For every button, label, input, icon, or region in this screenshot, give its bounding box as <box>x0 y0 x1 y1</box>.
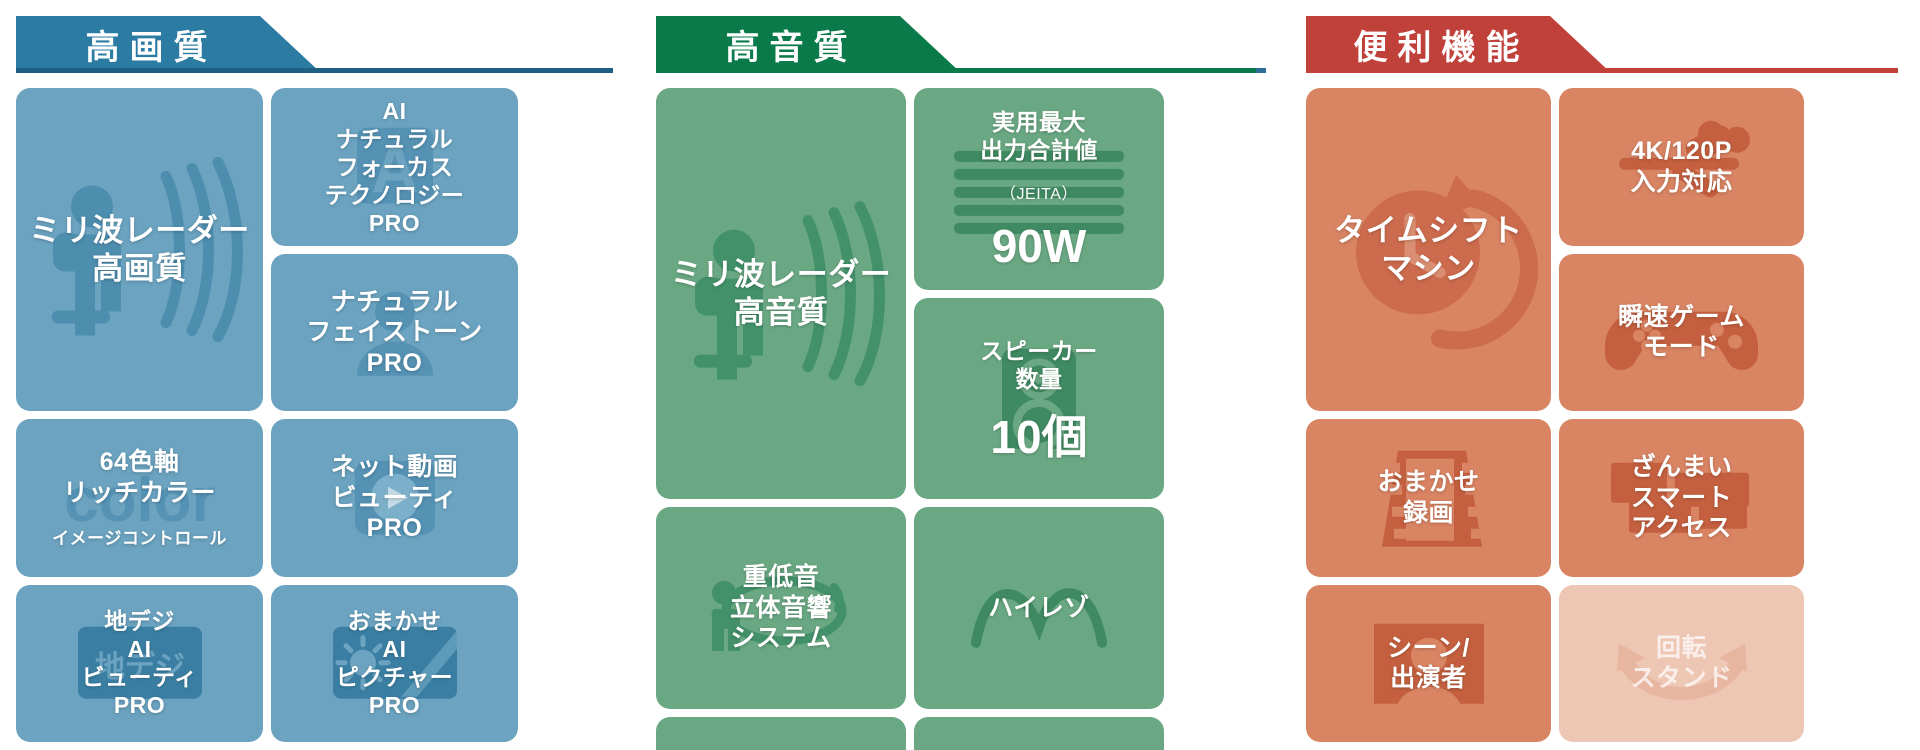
card-label: 瞬速ゲーム モード <box>1612 302 1751 363</box>
card-audio-calibration[interactable]: オーディオ キャリブ レーション <box>914 717 1164 750</box>
section-title-sound-quality: 高音質 <box>716 20 858 69</box>
card-label-sub: イメージコントロール <box>52 529 227 549</box>
section-picture-quality: 高画質 <box>0 0 640 750</box>
card-label: おまかせ AI ピクチャー PRO <box>330 607 459 719</box>
diamond-mic-icon <box>914 717 1164 750</box>
card-label: タイムシフトマシン <box>1328 212 1528 288</box>
section-tab-picture-quality: 高画質 <box>16 16 321 73</box>
section-convenient-features: 便利機能 タイムシフトマシン <box>1290 0 1920 750</box>
card-speaker-count[interactable]: スピーカー 数量 10個 <box>914 298 1164 500</box>
card-label: 4K/120P 入力対応 <box>1624 136 1738 197</box>
rule-notch <box>1256 68 1266 73</box>
card-label: 64色軸 リッチカラー イメージコントロール <box>46 427 233 568</box>
section-title-picture-quality: 高画質 <box>76 20 218 69</box>
card-4k-120p-input[interactable]: 4K/120P 入力対応 <box>1559 88 1804 246</box>
section-tab-sound-quality: 高音質 <box>656 16 961 73</box>
card-label: ミリ波レーダー高画質 <box>23 212 256 288</box>
section-rule-convenient-features <box>1306 68 1898 73</box>
card-omakase-ai-picture-pro[interactable]: おまかせ AI ピクチャー PRO <box>271 585 518 743</box>
card-zanmai-smart-access[interactable]: ざんまい スマート アクセス <box>1559 419 1804 577</box>
card-net-video-beauty-pro[interactable]: ネット動画 ビューティ PRO <box>271 419 518 577</box>
card-label-value: 10個 <box>980 414 1098 461</box>
card-label: おまかせ 録画 <box>1371 467 1485 528</box>
card-instant-game-mode[interactable]: 瞬速ゲーム モード <box>1559 254 1804 412</box>
card-label-head: 64色軸 リッチカラー <box>52 447 227 510</box>
card-omakase-recording[interactable]: おまかせ 録画 <box>1306 419 1551 577</box>
section-sound-quality: 高音質 <box>640 0 1290 750</box>
card-label: ハイレゾ <box>982 593 1096 624</box>
section-header-convenient-features: 便利機能 <box>1290 0 1920 88</box>
ear-icon <box>656 717 906 750</box>
card-label-head: スピーカー 数量 <box>980 337 1098 395</box>
feature-board: 高画質 <box>0 0 1920 750</box>
card-label: ミリ波レーダー高音質 <box>665 256 898 332</box>
section-title-convenient-features: 便利機能 <box>1344 20 1530 69</box>
section-tab-convenient-features: 便利機能 <box>1306 16 1611 73</box>
card-rich-color-image-control[interactable]: color 64色軸 リッチカラー イメージコントロール <box>16 419 263 577</box>
card-label: 実用最大 出力合計値 （JEITA） 90W <box>974 88 1104 290</box>
card-scene-cast[interactable]: シーン/ 出演者 <box>1306 585 1551 743</box>
card-label: ざんまい スマート アクセス <box>1624 452 1738 544</box>
card-max-practical-output-jeita[interactable]: 実用最大 出力合計値 （JEITA） 90W <box>914 88 1164 290</box>
section-header-sound-quality: 高音質 <box>640 0 1290 88</box>
card-label: 回転 スタンド <box>1624 633 1738 694</box>
card-timeshift-machine[interactable]: タイムシフトマシン <box>1306 88 1551 411</box>
section-rule-sound-quality <box>656 68 1256 73</box>
card-label: 重低音 立体音響 システム <box>724 562 838 654</box>
card-mmwave-radar-sound-quality[interactable]: ミリ波レーダー高音質 <box>656 88 906 499</box>
card-ai-natural-focus-technology-pro[interactable]: A AI ナチュラル フォーカス テクノロジー PRO <box>271 88 518 246</box>
card-terrestrial-ai-beauty-pro[interactable]: 地デジ 地デジ AI ビューティ PRO <box>16 585 263 743</box>
card-label: 地デジ AI ビューティ PRO <box>75 607 203 719</box>
card-label-unit: （JEITA） <box>980 185 1098 204</box>
card-label: AI ナチュラル フォーカス テクノロジー PRO <box>319 97 471 237</box>
card-label: ナチュラル フェイストーン PRO <box>300 287 489 379</box>
card-grid-picture-quality: ミリ波レーダー高画質 A AI ナチュラル フォーカス テクノロジー PRO ナ… <box>0 88 640 750</box>
card-label-value: 90W <box>980 223 1098 270</box>
card-deep-bass-3d-sound-system[interactable]: 重低音 立体音響 システム <box>656 507 906 709</box>
card-label: スピーカー 数量 10個 <box>974 317 1104 480</box>
card-grid-convenient-features: タイムシフトマシン 4K/120P 入力対応 <box>1290 88 1920 750</box>
card-label-head: 実用最大 出力合計値 <box>980 108 1098 166</box>
card-label: シーン/ 出演者 <box>1381 633 1476 694</box>
card-grid-sound-quality: ミリ波レーダー高音質 実用最大 出力合計値 （JEITA） 90W <box>640 88 1290 750</box>
card-dolby-atmos[interactable]: ドルビー アトモス <box>656 717 906 750</box>
card-mmwave-radar-picture-quality[interactable]: ミリ波レーダー高画質 <box>16 88 263 411</box>
section-rule-picture-quality <box>16 68 613 73</box>
card-label: ネット動画 ビューティ PRO <box>325 452 465 544</box>
card-natural-face-tone-pro[interactable]: ナチュラル フェイストーン PRO <box>271 254 518 412</box>
section-header-picture-quality: 高画質 <box>0 0 640 88</box>
card-hi-res-audio[interactable]: ハイレゾ <box>914 507 1164 709</box>
card-rotating-stand[interactable]: 回転 スタンド <box>1559 585 1804 743</box>
